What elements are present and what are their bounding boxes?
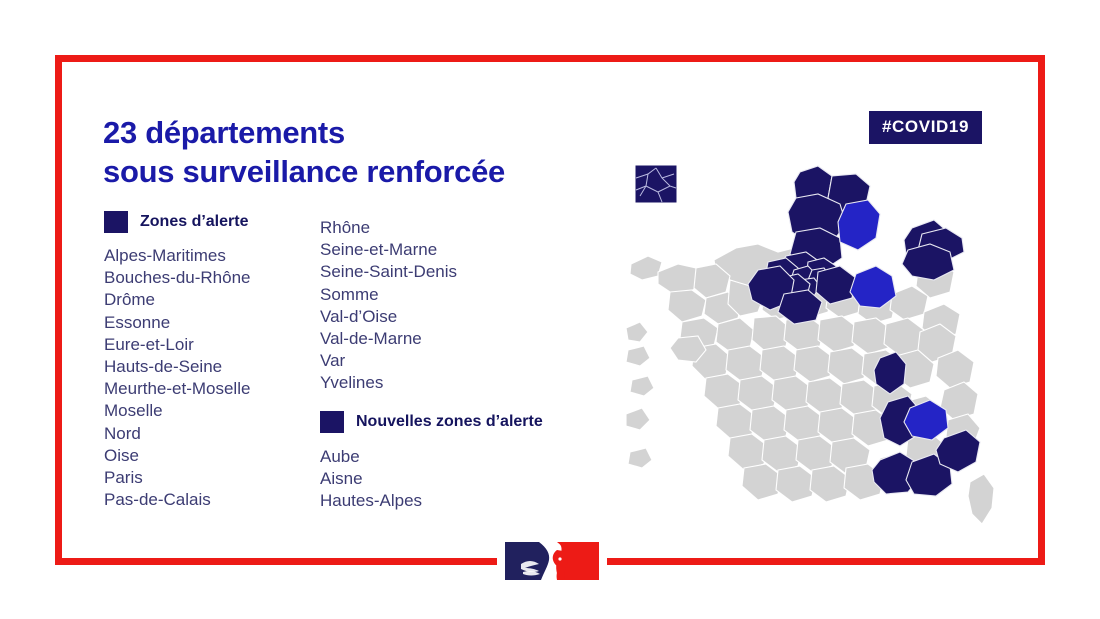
legend-swatch-alerte bbox=[104, 211, 128, 233]
department-item: Val-de-Marne bbox=[320, 328, 457, 350]
department-item: Hautes-Alpes bbox=[320, 490, 422, 512]
legend-label-alerte: Zones d’alerte bbox=[140, 213, 248, 231]
department-item: Pas-de-Calais bbox=[104, 489, 250, 511]
legend-zones-alerte: Zones d’alerte bbox=[104, 211, 248, 233]
department-list-column-1: Alpes-MaritimesBouches-du-RhôneDrômeEsso… bbox=[104, 245, 250, 511]
department-item: Aisne bbox=[320, 468, 422, 490]
department-item: Paris bbox=[104, 467, 250, 489]
legend-nouvelles-zones-alerte: Nouvelles zones d’alerte bbox=[320, 411, 543, 433]
department-item: Val-d’Oise bbox=[320, 306, 457, 328]
department-item: Var bbox=[320, 350, 457, 372]
department-item: Eure-et-Loir bbox=[104, 334, 250, 356]
department-item: Rhône bbox=[320, 217, 457, 239]
department-item: Seine-Saint-Denis bbox=[320, 261, 457, 283]
title-line-2: sous surveillance renforcée bbox=[103, 152, 623, 191]
department-item: Oise bbox=[104, 445, 250, 467]
paris-region-inset bbox=[636, 166, 676, 202]
status-badge: #COVID19 bbox=[869, 111, 982, 144]
legend-label-nouvelles: Nouvelles zones d’alerte bbox=[356, 413, 543, 431]
department-item: Seine-et-Marne bbox=[320, 239, 457, 261]
department-item: Moselle bbox=[104, 400, 250, 422]
department-item: Aube bbox=[320, 446, 422, 468]
department-list-nouvelles: AubeAisneHautes-Alpes bbox=[320, 446, 422, 513]
department-item: Meurthe-et-Moselle bbox=[104, 378, 250, 400]
department-item: Nord bbox=[104, 423, 250, 445]
department-item: Bouches-du-Rhône bbox=[104, 267, 250, 289]
legend-swatch-nouvelles bbox=[320, 411, 344, 433]
marianne-french-flag-logo bbox=[497, 538, 607, 584]
department-item: Drôme bbox=[104, 289, 250, 311]
france-map bbox=[618, 152, 1018, 542]
department-item: Essonne bbox=[104, 312, 250, 334]
department-item: Yvelines bbox=[320, 372, 457, 394]
department-item: Hauts-de-Seine bbox=[104, 356, 250, 378]
department-item: Somme bbox=[320, 284, 457, 306]
page-title: 23 départements sous surveillance renfor… bbox=[103, 113, 623, 191]
department-list-column-2: RhôneSeine-et-MarneSeine-Saint-DenisSomm… bbox=[320, 217, 457, 395]
department-item: Alpes-Maritimes bbox=[104, 245, 250, 267]
infographic-root: 23 départements sous surveillance renfor… bbox=[0, 0, 1100, 619]
title-line-1: 23 départements bbox=[103, 115, 345, 150]
